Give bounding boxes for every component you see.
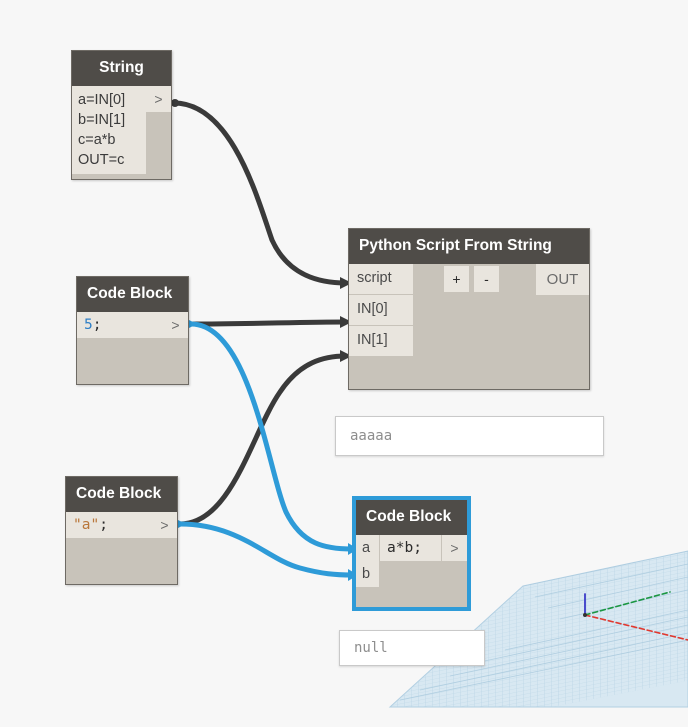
code-block-ab-editor[interactable]: a*b; <box>380 535 441 561</box>
node-python-body: script IN[0] IN[1] + - OUT <box>349 264 589 389</box>
preview-bubble-python: aaaaa <box>335 416 604 456</box>
string-line-3: OUT=c <box>72 150 146 170</box>
python-input-port-in0[interactable]: IN[0] <box>349 295 413 326</box>
node-code-block-ab-body: a b a*b; > <box>356 535 467 607</box>
node-code-block-ab[interactable]: Code Block a b a*b; > <box>353 497 470 610</box>
node-python-script-from-string[interactable]: Python Script From String script IN[0] I… <box>348 228 590 390</box>
code-terminator: ; <box>93 317 102 333</box>
axis-tripod <box>583 592 688 640</box>
node-string-code-lines[interactable]: a=IN[0] b=IN[1] c=a*b OUT=c <box>72 86 146 174</box>
code-literal: 5 <box>84 317 93 333</box>
node-code-block-a[interactable]: Code Block "a"; > <box>65 476 178 585</box>
code-literal: a*b <box>387 540 413 556</box>
wire-cba-to-port-b <box>180 524 352 575</box>
wire-cba-to-in1 <box>180 356 346 524</box>
code-terminator: ; <box>99 517 108 533</box>
string-line-2: c=a*b <box>72 130 146 150</box>
code-block-5-editor[interactable]: 5; <box>77 312 163 338</box>
node-python-title: Python Script From String <box>349 229 589 264</box>
node-string[interactable]: String a=IN[0] b=IN[1] c=a*b OUT=c > <box>71 50 172 180</box>
node-graph-canvas[interactable]: String a=IN[0] b=IN[1] c=a*b OUT=c > Cod… <box>0 0 688 727</box>
wire-cb5-to-in0 <box>191 322 346 324</box>
code-block-ab-output-port[interactable]: > <box>442 535 467 561</box>
code-block-ab-input-port-a[interactable]: a <box>356 535 379 561</box>
string-line-1: b=IN[1] <box>72 110 146 130</box>
node-code-block-ab-title: Code Block <box>356 500 467 535</box>
python-output-port[interactable]: OUT <box>536 264 589 295</box>
code-terminator: ; <box>413 540 422 556</box>
code-block-ab-input-port-b[interactable]: b <box>356 561 379 587</box>
code-block-a-output-port[interactable]: > <box>152 512 177 538</box>
wire-cb5-to-port-a <box>191 324 352 549</box>
node-string-output-port[interactable]: > <box>146 86 171 112</box>
node-string-title: String <box>72 51 171 86</box>
add-input-button[interactable]: + <box>444 266 469 292</box>
node-code-block-5[interactable]: Code Block 5; > <box>76 276 189 385</box>
string-line-0: a=IN[0] <box>72 90 146 110</box>
wire-string-to-script <box>174 103 346 283</box>
node-code-block-5-body: 5; > <box>77 312 188 384</box>
python-input-port-in1[interactable]: IN[1] <box>349 326 413 357</box>
node-code-block-a-title: Code Block <box>66 477 177 512</box>
preview-bubble-code-block-ab: null <box>339 630 485 666</box>
code-block-a-editor[interactable]: "a"; <box>66 512 152 538</box>
code-block-5-output-port[interactable]: > <box>163 312 188 338</box>
code-literal: "a" <box>73 517 99 533</box>
node-code-block-a-body: "a"; > <box>66 512 177 584</box>
remove-input-button[interactable]: - <box>474 266 499 292</box>
node-code-block-5-title: Code Block <box>77 277 188 312</box>
node-string-body: a=IN[0] b=IN[1] c=a*b OUT=c > <box>72 86 171 179</box>
python-input-port-script[interactable]: script <box>349 264 413 295</box>
